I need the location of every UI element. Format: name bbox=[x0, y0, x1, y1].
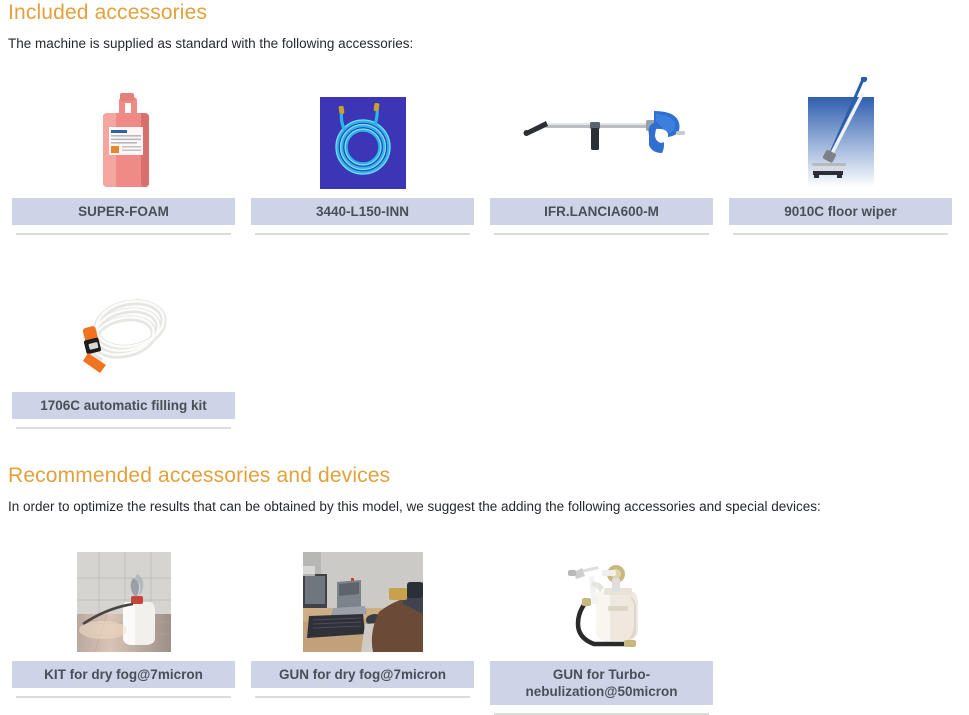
accessories-page: Included accessories The machine is supp… bbox=[0, 0, 969, 683]
accessory-label: KIT for dry fog@7micron bbox=[12, 661, 235, 688]
section-description-recommended: In order to optimize the results that ca… bbox=[8, 498, 961, 516]
accessory-card[interactable]: IFR.LANCIA600-M bbox=[482, 77, 721, 235]
card-divider bbox=[255, 696, 470, 698]
card-divider bbox=[16, 696, 231, 698]
included-accessories-grid: SUPER-FOAM bbox=[0, 77, 969, 235]
accessory-card[interactable]: SUPER-FOAM bbox=[4, 77, 243, 235]
spray-gun-lance-image bbox=[516, 101, 688, 163]
accessory-label: GUN for dry fog@7micron bbox=[251, 661, 474, 688]
spacer bbox=[0, 235, 969, 271]
card-divider bbox=[16, 233, 231, 235]
accessory-label: 9010C floor wiper bbox=[729, 198, 952, 225]
spacer bbox=[0, 429, 969, 463]
section-title-included: Included accessories bbox=[8, 0, 961, 26]
card-divider bbox=[494, 233, 709, 235]
coiled-white-hose-kit-image bbox=[72, 283, 176, 383]
section-recommended-accessories: Recommended accessories and devices In o… bbox=[0, 463, 969, 516]
card-divider bbox=[733, 233, 948, 235]
section-description-included: The machine is supplied as standard with… bbox=[8, 35, 961, 53]
section-title-recommended: Recommended accessories and devices bbox=[8, 463, 961, 489]
accessory-thumbnail[interactable] bbox=[729, 77, 952, 189]
section-included-accessories: Included accessories The machine is supp… bbox=[0, 0, 969, 53]
recommended-accessories-grid: KIT for dry fog@7micron bbox=[0, 540, 969, 715]
floor-wiper-squeegee-image bbox=[808, 77, 874, 189]
accessory-card[interactable]: GUN for dry fog@7micron bbox=[243, 540, 482, 715]
accessory-thumbnail[interactable] bbox=[490, 540, 713, 652]
accessory-thumbnail[interactable] bbox=[12, 77, 235, 189]
accessory-card[interactable]: 1706C automatic filling kit bbox=[4, 271, 243, 429]
accessory-thumbnail[interactable] bbox=[12, 540, 235, 652]
card-divider bbox=[16, 427, 231, 429]
accessory-card[interactable]: 9010C floor wiper bbox=[721, 77, 960, 235]
jerrycan-detergent-image bbox=[89, 89, 159, 189]
accessory-thumbnail[interactable] bbox=[251, 540, 474, 652]
spacer bbox=[0, 516, 969, 540]
accessory-card[interactable]: 3440-L150-INN bbox=[243, 77, 482, 235]
coiled-blue-hose-image bbox=[320, 97, 406, 189]
office-fogging-gun-photo bbox=[303, 552, 423, 652]
accessory-label: 3440-L150-INN bbox=[251, 198, 474, 225]
included-accessories-grid-row2: 1706C automatic filling kit bbox=[0, 271, 969, 429]
spacer bbox=[0, 53, 969, 77]
accessory-label: 1706C automatic filling kit bbox=[12, 392, 235, 419]
accessory-card[interactable]: KIT for dry fog@7micron bbox=[4, 540, 243, 715]
accessory-card[interactable]: GUN for Turbo-nebulization@50micron bbox=[482, 540, 721, 715]
accessory-label: IFR.LANCIA600-M bbox=[490, 198, 713, 225]
turbo-nebulization-gun-image bbox=[554, 548, 650, 652]
dry-fog-kit-photo bbox=[77, 552, 171, 652]
accessory-label: GUN for Turbo-nebulization@50micron bbox=[490, 661, 713, 705]
accessory-thumbnail[interactable] bbox=[490, 77, 713, 189]
accessory-thumbnail[interactable] bbox=[12, 271, 235, 383]
accessory-thumbnail[interactable] bbox=[251, 77, 474, 189]
card-divider bbox=[255, 233, 470, 235]
accessory-label: SUPER-FOAM bbox=[12, 198, 235, 225]
